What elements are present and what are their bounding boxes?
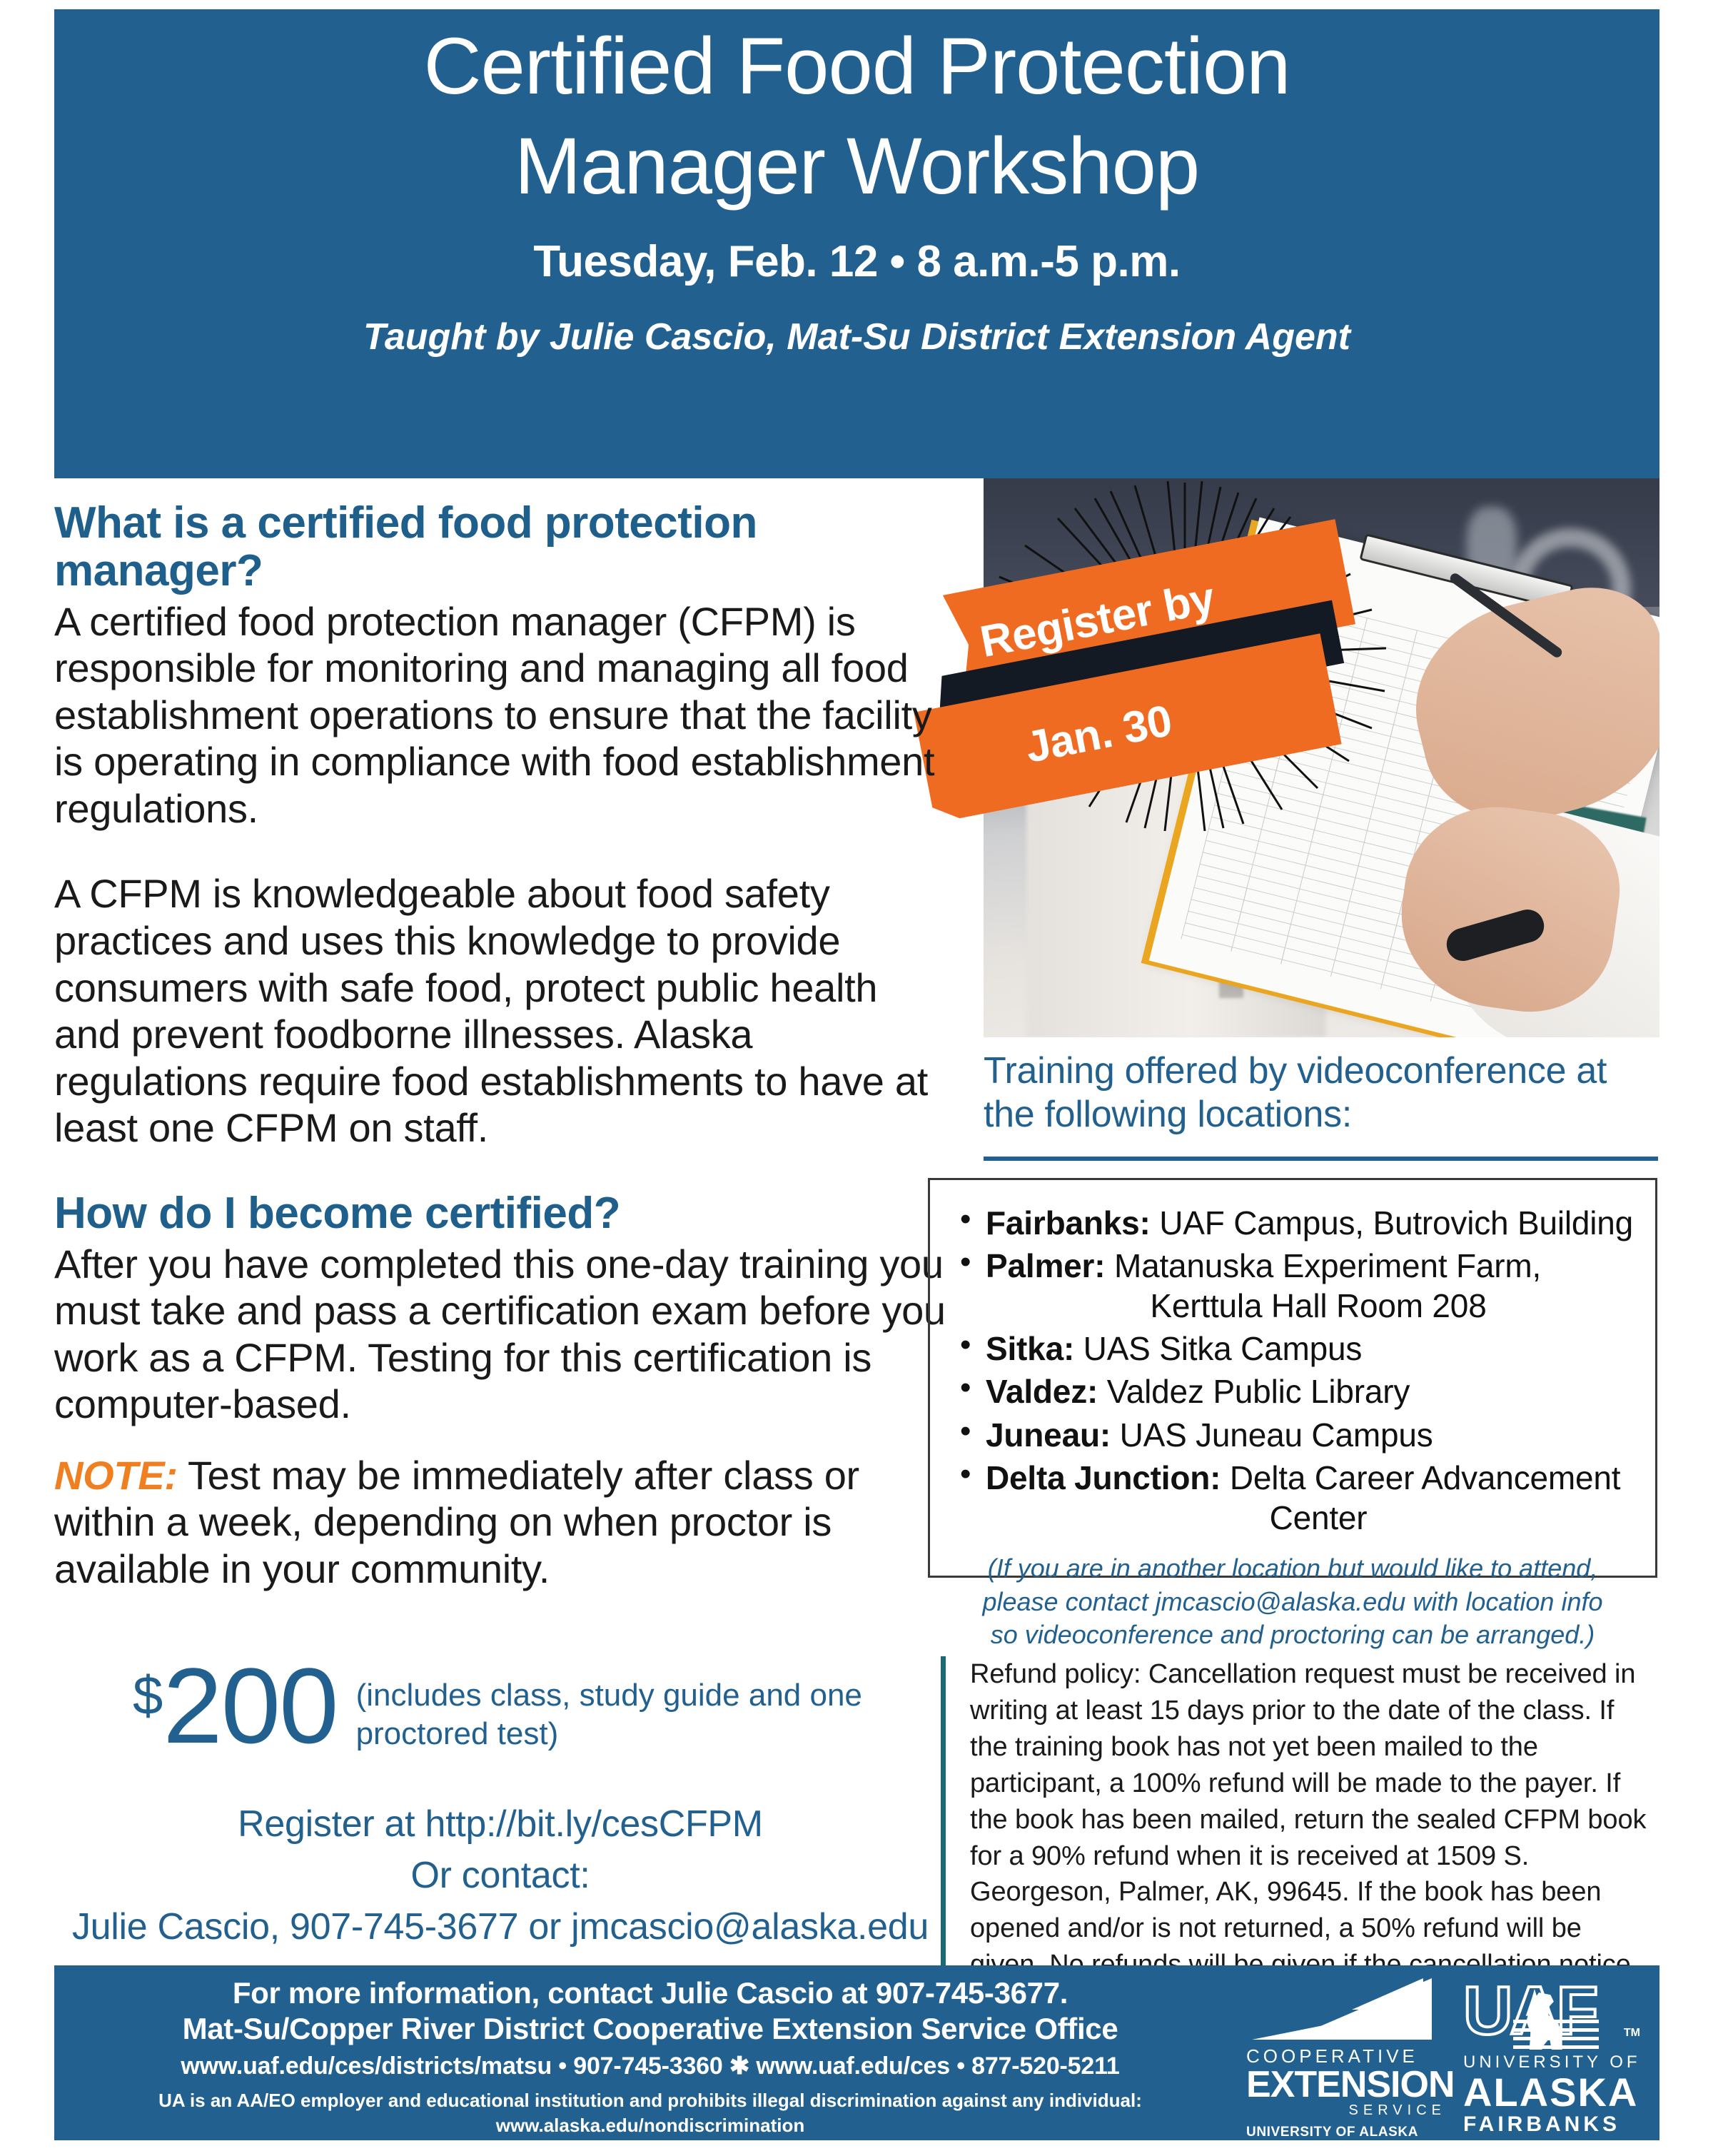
location-city: Delta Junction: [986,1459,1221,1496]
location-place: Delta Career Advancement [1230,1459,1621,1496]
uaf-logo: UAF TM UNIVERSITY OF ALASKA FAIRBANKS [1463,1977,1642,2137]
list-item: Sitka: UAS Sitka Campus [949,1329,1637,1369]
register-by-badge: Register by Jan. 30 [935,532,1406,817]
or-contact-label: Or contact: [54,1850,946,1902]
footer-text-block: For more information, contact Julie Casc… [54,1965,1246,2138]
locations-footnote: (If you are in another location but woul… [949,1552,1637,1652]
list-item: Valdez: Valdez Public Library [949,1371,1637,1411]
poster-header: Certified Food Protection Manager Worksh… [54,9,1659,478]
event-datetime: Tuesday, Feb. 12 • 8 a.m.-5 p.m. [533,236,1180,287]
uaf-bear-mark-icon: UAF TM [1463,1977,1642,2051]
page-title-line-1: Certified Food Protection [424,26,1290,106]
instructor-line: Taught by Julie Cascio, Mat-Su District … [363,316,1350,358]
location-city: Juneau: [986,1416,1111,1454]
footer-nondiscrimination-url[interactable]: www.alaska.edu/nondiscrimination [54,2113,1246,2138]
price-includes-note: (includes class, study guide and one pro… [356,1676,946,1753]
note-label: NOTE: [54,1453,178,1498]
location-city: Sitka: [986,1330,1074,1367]
list-item: Palmer: Matanuska Experiment Farm,Kerttu… [949,1246,1637,1326]
paragraph-certification-exam: After you have completed this one-day tr… [54,1241,946,1428]
paragraph-cfpm-definition: A certified food protection manager (CFP… [54,598,946,832]
register-url-line[interactable]: Register at http://bit.ly/cesCFPM [54,1799,946,1850]
trademark-symbol: TM [1624,2027,1640,2040]
location-place-continued: Kerttula Hall Room 208 [986,1286,1637,1326]
location-city: Palmer: [986,1247,1105,1284]
uaf-word-fairbanks: FAIRBANKS [1463,2112,1642,2137]
locations-list: Fairbanks: UAF Campus, Butrovich Buildin… [949,1203,1637,1538]
footer-contact-line: For more information, contact Julie Casc… [54,1975,1246,2011]
registration-block: Register at http://bit.ly/cesCFPM Or con… [54,1799,946,1953]
contact-line[interactable]: Julie Cascio, 907-745-3677 or jmcascio@a… [54,1902,946,1953]
paragraph-cfpm-knowledge: A CFPM is knowledgeable about food safet… [54,870,946,1151]
divider-rule [984,1157,1658,1161]
location-city: Fairbanks: [986,1204,1151,1241]
location-place: UAF Campus, Butrovich Building [1159,1204,1633,1241]
extension-swoosh-icon [1246,1977,1446,2044]
price-amount: 200 [163,1656,337,1755]
location-place: Valdez Public Library [1107,1373,1410,1410]
location-place-continued: Center [986,1498,1637,1538]
uaf-word-alaska: ALASKA [1463,2072,1642,2112]
ces-word-university: UNIVERSITY OF ALASKA FAIRBANKS [1246,2125,1446,2156]
price-block: $ 200 (includes class, study guide and o… [133,1656,946,1755]
heading-how-to-certify: How do I become certified? [54,1190,946,1238]
footer-nondiscrimination-line: UA is an AA/EO employer and educational … [54,2088,1246,2113]
poster-footer: For more information, contact Julie Casc… [54,1965,1659,2140]
heading-what-is-cfpm: What is a certified food protection mana… [54,500,946,595]
footer-logos: COOPERATIVE EXTENSION SERVICE UNIVERSITY… [1246,1965,1642,2156]
training-locations-heading: Training offered by videoconference at t… [984,1049,1658,1137]
list-item: Juneau: UAS Juneau Campus [949,1415,1637,1455]
paragraph-note: NOTE: Test may be immediately after clas… [54,1452,946,1593]
locations-box: Fairbanks: UAF Campus, Butrovich Buildin… [928,1178,1657,1578]
currency-symbol: $ [133,1669,163,1723]
location-place: Matanuska Experiment Farm, [1114,1247,1541,1284]
location-place: UAS Juneau Campus [1120,1416,1433,1454]
footer-links-line[interactable]: www.uaf.edu/ces/districts/matsu • 907-74… [54,2050,1246,2084]
location-city: Valdez: [986,1373,1098,1410]
page-title-line-2: Manager Workshop [515,126,1199,206]
cooperative-extension-logo: COOPERATIVE EXTENSION SERVICE UNIVERSITY… [1246,1977,1446,2156]
footer-office-line: Mat-Su/Copper River District Cooperative… [54,2011,1246,2047]
list-item: Fairbanks: UAF Campus, Butrovich Buildin… [949,1203,1637,1243]
left-content-column: What is a certified food protection mana… [54,500,946,1592]
ces-word-extension: EXTENSION [1246,2067,1446,2102]
list-item: Delta Junction: Delta Career Advancement… [949,1458,1637,1538]
location-place: UAS Sitka Campus [1083,1330,1363,1367]
